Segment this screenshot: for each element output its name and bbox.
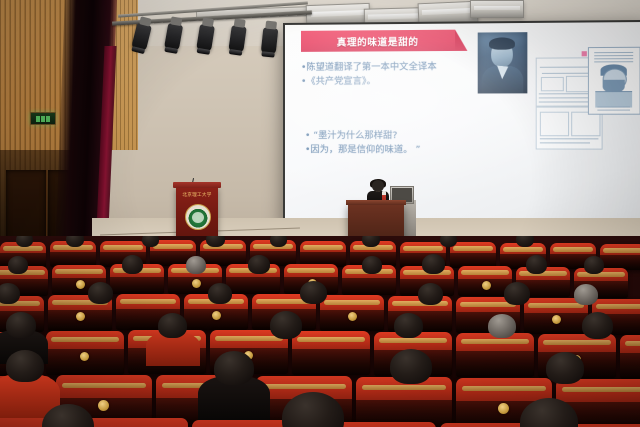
audience-head	[0, 283, 20, 304]
slide-bullet-line: • “墨汁为什么那样甜?	[305, 129, 509, 143]
audience-head	[504, 282, 530, 305]
slide-title-banner: 真理的味道是甜的	[301, 30, 455, 52]
auditorium-photo: 真理的味道是甜的 •陈望道翻译了第一本中文全译本 •《共产党宣言》。 • “墨汁…	[0, 0, 640, 427]
audience-head	[88, 282, 113, 304]
slide-surface: 真理的味道是甜的 •陈望道翻译了第一本中文全译本 •《共产党宣言》。 • “墨汁…	[285, 22, 640, 225]
audience-head	[526, 255, 547, 274]
audience-head	[362, 256, 382, 274]
slide-bullet-line: •《共产党宣言》。	[301, 74, 505, 88]
audience-head	[574, 284, 598, 305]
audience-seating	[0, 236, 640, 427]
exit-sign-icon	[30, 112, 56, 125]
audience-head	[214, 351, 254, 385]
podium-university-label: 北京理工大学	[179, 192, 215, 198]
audience-head	[418, 283, 443, 305]
portrait-photo	[478, 32, 528, 93]
slide-bullet-line: •陈望道翻译了第一本中文全译本	[301, 60, 505, 75]
audience-head	[270, 236, 287, 247]
audience-head	[582, 312, 613, 339]
slide-bullets-bottom: • “墨汁为什么那样甜? •因为，那是信仰的味道。 ”	[305, 129, 509, 157]
audience-head	[516, 236, 534, 247]
audience-head	[206, 236, 225, 247]
audience-head	[8, 256, 28, 274]
audience-head	[394, 313, 423, 338]
slide-bullets-top: •陈望道翻译了第一本中文全译本 •《共产党宣言》。	[301, 60, 505, 88]
audience-head	[158, 313, 187, 338]
audience-head	[6, 312, 36, 338]
audience-head	[186, 256, 206, 274]
audience-head	[66, 236, 84, 247]
audience-head	[546, 352, 584, 384]
audience-head	[16, 236, 33, 247]
audience-head	[390, 349, 432, 384]
audience-head	[440, 236, 457, 247]
audience-head	[584, 256, 604, 274]
audience-head	[362, 236, 380, 247]
audience-head	[122, 255, 143, 274]
university-emblem	[185, 204, 211, 230]
slide-title-text: 真理的味道是甜的	[337, 33, 419, 48]
audience-head	[488, 314, 516, 338]
book-cover-illustration	[588, 47, 640, 115]
stage-spotlight	[261, 27, 279, 54]
slide-pink-mark	[582, 51, 587, 56]
audience-head	[248, 255, 270, 274]
slide-bullet-line: •因为，那是信仰的味道。 ”	[305, 143, 509, 157]
audience-head	[300, 281, 327, 304]
audience-head	[208, 283, 232, 304]
audience-head	[142, 236, 159, 247]
projection-screen: 真理的味道是甜的 •陈望道翻译了第一本中文全译本 •《共产党宣言》。 • “墨汁…	[283, 20, 640, 230]
ceiling-light-panel	[470, 0, 524, 18]
audience-head	[6, 350, 44, 382]
audience-head	[422, 254, 445, 274]
audience-head	[270, 311, 302, 339]
